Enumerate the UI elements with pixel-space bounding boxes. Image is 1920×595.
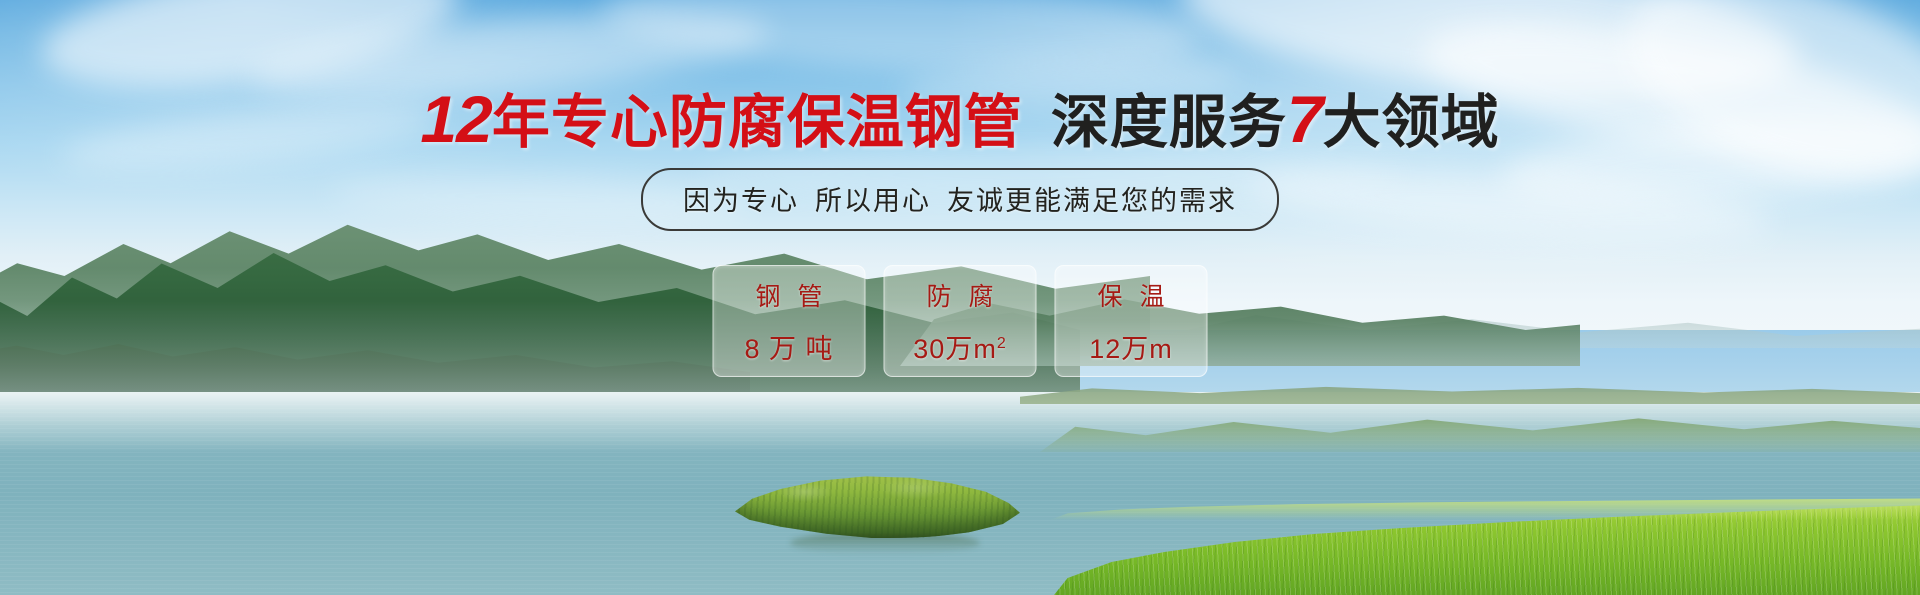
banner-headline: 12年专心防腐保温钢管深度服务7大领域 [0, 86, 1920, 152]
stat-card-title: 防 腐 [922, 277, 999, 313]
stat-card-group: 钢 管 8 万 吨 防 腐 30万m2 保 温 12万m [713, 265, 1208, 377]
stat-card-title: 保 温 [1093, 277, 1170, 313]
stat-card-steel-pipe[interactable]: 钢 管 8 万 吨 [713, 265, 866, 377]
subtitle-part-2: 所以用心 [815, 186, 931, 216]
stat-card-value: 30万m2 [913, 327, 1006, 366]
stat-card-value: 8 万 吨 [744, 327, 833, 366]
stat-card-value: 12万m [1089, 327, 1173, 366]
stat-card-value-text: 8 万 吨 [744, 334, 833, 364]
far-shoreline [1020, 378, 1920, 404]
stat-card-title: 钢 管 [751, 277, 828, 313]
hero-banner: 12年专心防腐保温钢管深度服务7大领域 因为专心所以用心友诚更能满足您的需求 钢… [0, 0, 1920, 595]
headline-fields-text: 大领域 [1323, 90, 1500, 155]
stat-card-insulation[interactable]: 保 温 12万m [1055, 265, 1208, 377]
headline-years-unit: 年专心防腐保温钢管 [492, 90, 1023, 155]
stat-card-value-text: 12万m [1089, 334, 1173, 364]
subtitle-part-3: 友诚更能满足您的需求 [947, 186, 1237, 216]
headline-years-number: 12 [420, 82, 491, 156]
subtitle-part-1: 因为专心 [683, 186, 799, 216]
headline-service-text: 深度服务 [1051, 90, 1287, 155]
subtitle-pill: 因为专心所以用心友诚更能满足您的需求 [641, 168, 1279, 231]
stat-card-value-text: 30万m [913, 334, 997, 364]
headline-fields-number: 7 [1287, 82, 1323, 156]
stat-card-anticorrosion[interactable]: 防 腐 30万m2 [884, 265, 1037, 377]
stat-card-value-superscript: 2 [997, 335, 1007, 352]
